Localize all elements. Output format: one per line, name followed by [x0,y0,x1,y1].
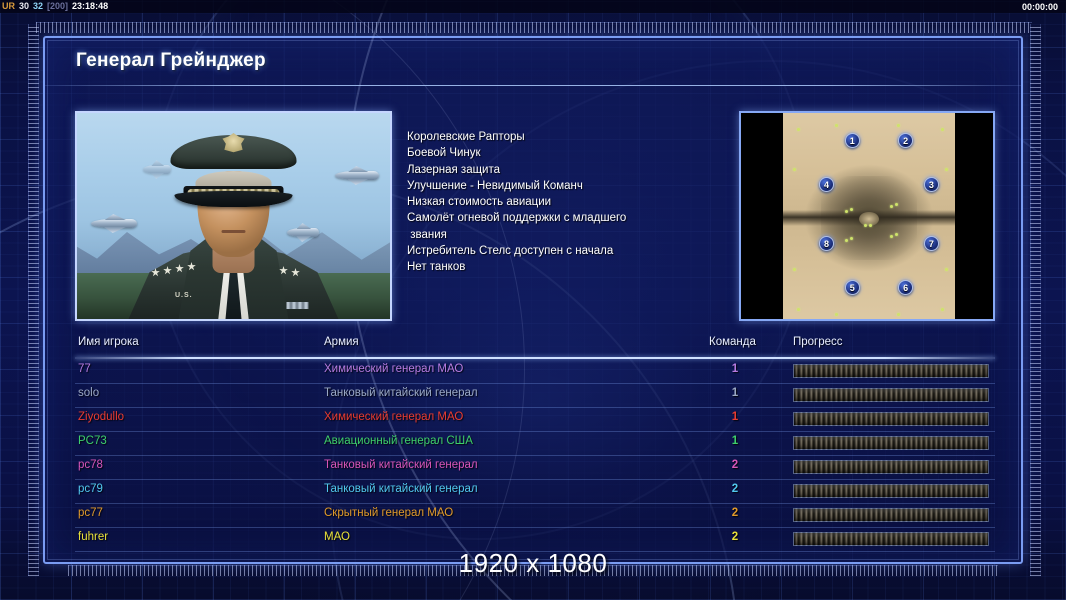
ability-line: звания [407,227,727,243]
player-name: solo [78,387,99,399]
player-progress-bar [793,508,989,522]
minimap-resource-icon [797,308,800,311]
minimap-resource-icon [797,128,800,131]
minimap-resource-icon [897,124,900,127]
player-army: Скрытный генерал МАО [324,507,453,519]
general-info-panel: Генерал Грейнджер [43,36,1023,564]
ability-line: Нет танков [407,259,727,275]
player-team: 1 [715,411,755,423]
table-row[interactable]: pc79Танковый китайский генерал2 [75,480,995,504]
table-row[interactable]: pc78Танковый китайский генерал2 [75,456,995,480]
minimap-resource-icon [941,308,944,311]
page-title: Генерал Грейнджер [76,50,266,72]
status-overlay-bar: UR 30 32 [200] 23:18:48 00:00:00 [0,0,1066,13]
general-portrait: U.S. [75,111,392,321]
minimap-start-position-3[interactable]: 3 [924,177,939,192]
player-army: Танковый китайский генерал [324,459,478,471]
table-body: 77Химический генерал МАО1soloТанковый ки… [75,360,995,552]
minimap-start-position-5[interactable]: 5 [845,280,860,295]
column-header-team: Команда [709,336,756,348]
player-progress-bar [793,364,989,378]
player-name: PC73 [78,435,107,447]
ability-line: Боевой Чинук [407,145,727,161]
minimap-resource-icon [793,168,796,171]
ruler-right [1030,24,1041,576]
overlay-number-1: 30 [17,0,31,13]
player-team: 1 [715,363,755,375]
minimap-resource-icon [850,237,853,240]
column-header-progress: Прогресс [793,336,843,348]
minimap-resource-icon [945,268,948,271]
minimap-resource-icon [890,235,893,238]
overlay-number-2: 32 [31,0,45,13]
table-header-divider [75,357,995,359]
player-team: 2 [715,531,755,543]
general-mouth [222,230,246,233]
column-header-player-name: Имя игрока [78,336,139,348]
service-ribbon-icon [286,302,308,309]
panel-title-bar: Генерал Грейнджер [45,38,1021,86]
player-progress-bar [793,436,989,450]
table-header-row: Имя игрока Армия Команда Прогресс [75,336,995,358]
player-army: Химический генерал МАО [324,363,463,375]
player-table: Имя игрока Армия Команда Прогресс 77Хими… [75,336,995,548]
overlay-clock: 23:18:48 [70,0,110,13]
ruler-top [36,22,1032,33]
aircraft-icon [335,171,379,180]
player-army: Химический генерал МАО [324,411,463,423]
player-team: 2 [715,483,755,495]
minimap-resource-icon [845,210,848,213]
player-name: 77 [78,363,91,375]
info-row: U.S. Королевские Рапторы Боевой Чинук Ла… [75,111,995,321]
minimap-terrain: 12345678 [783,113,955,321]
minimap-resource-icon [895,233,898,236]
ability-line: Истребитель Стелс доступен с начала [407,243,727,259]
minimap-start-position-6[interactable]: 6 [898,280,913,295]
overlay-tag: UR [0,0,17,13]
minimap-resource-icon [835,313,838,316]
player-progress-bar [793,532,989,546]
player-team: 2 [715,507,755,519]
minimap-resource-icon [845,239,848,242]
table-row[interactable]: pc77Скрытный генерал МАО2 [75,504,995,528]
us-insignia-label: U.S. [175,292,193,299]
resolution-overlay: 1920 x 1080 [0,548,1066,579]
player-progress-bar [793,484,989,498]
title-divider [45,85,1021,86]
minimap-resource-icon [945,168,948,171]
table-row[interactable]: 77Химический генерал МАО1 [75,360,995,384]
player-team: 1 [715,387,755,399]
table-row[interactable]: ZiyodulloХимический генерал МАО1 [75,408,995,432]
player-army: Танковый китайский генерал [324,483,478,495]
player-name: pc79 [78,483,103,495]
minimap-resource-icon [793,268,796,271]
overlay-bracket: [200] [45,0,70,13]
minimap[interactable]: 12345678 [739,111,995,321]
minimap-resource-icon [897,313,900,316]
minimap-resource-icon [835,124,838,127]
player-name: pc77 [78,507,103,519]
ability-line: Королевские Рапторы [407,129,727,145]
column-header-army: Армия [324,336,359,348]
player-name: Ziyodullo [78,411,124,423]
minimap-start-position-7[interactable]: 7 [924,236,939,251]
minimap-start-position-1[interactable]: 1 [845,133,860,148]
player-progress-bar [793,388,989,402]
player-army: Танковый китайский генерал [324,387,478,399]
general-abilities-list: Королевские Рапторы Боевой Чинук Лазерна… [407,129,727,276]
ability-line: Низкая стоимость авиации [407,194,727,210]
player-team: 2 [715,459,755,471]
ability-line: Лазерная защита [407,162,727,178]
minimap-resource-icon [941,128,944,131]
player-progress-bar [793,412,989,426]
table-row[interactable]: PC73Авиационный генерал США1 [75,432,995,456]
ruler-left [28,24,39,576]
minimap-start-position-2[interactable]: 2 [898,133,913,148]
general-cap-visor [175,191,293,207]
ability-line: Самолёт огневой поддержки с младшего [407,210,727,226]
player-progress-bar [793,460,989,474]
player-name: fuhrer [78,531,108,543]
overlay-right-clock: 00:00:00 [1022,2,1058,12]
player-army: Авиационный генерал США [324,435,473,447]
general-figure: U.S. [131,129,336,319]
ability-line: Улучшение - Невидимый Команч [407,178,727,194]
minimap-resource-icon [850,208,853,211]
player-name: pc78 [78,459,103,471]
table-row[interactable]: soloТанковый китайский генерал1 [75,384,995,408]
player-team: 1 [715,435,755,447]
player-army: МАО [324,531,350,543]
